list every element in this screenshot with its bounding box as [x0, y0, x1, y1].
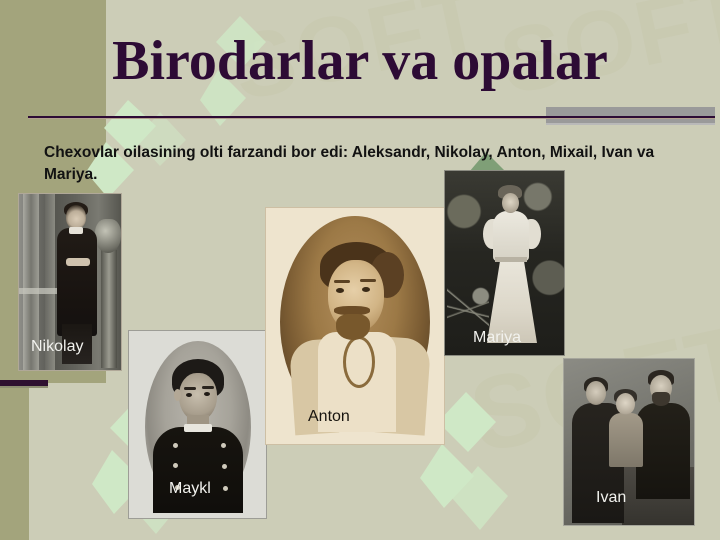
left-bottom-accent-shadow [0, 386, 48, 388]
caption-ivan: Ivan [596, 489, 626, 507]
body-paragraph: Chexovlar oilasining olti farzandi bor e… [44, 142, 664, 186]
photo-nikolay-vase [95, 219, 121, 253]
photo-maykl-button-4 [221, 443, 226, 448]
photo-nikolay[interactable]: Nikolay [18, 193, 122, 371]
caption-nikolay: Nikolay [31, 338, 83, 356]
photo-anton-brow-right [360, 279, 376, 282]
caption-maykl: Maykl [169, 480, 211, 498]
photo-anton[interactable]: Anton [265, 207, 445, 445]
photo-anton-eye-left [336, 288, 344, 293]
photo-nikolay-coat [57, 228, 97, 336]
photo-maykl-eye-left [186, 393, 192, 397]
photo-maykl[interactable]: Maykl [128, 330, 267, 519]
photo-nikolay-pedestal [101, 250, 117, 368]
photo-maykl-ear [174, 389, 181, 401]
photo-ivan-man-body [636, 403, 690, 499]
photo-maykl-face [179, 373, 217, 421]
photo-anton-eye-right [362, 287, 370, 292]
photo-ivan[interactable]: Ivan [563, 358, 695, 526]
photo-maykl-brow-right [202, 386, 214, 389]
photo-maykl-eye-right [204, 392, 210, 396]
photo-ivan-child-body [609, 413, 643, 467]
photo-maykl-brow-left [184, 387, 196, 390]
caption-mariya: Mariya [473, 329, 521, 347]
photo-maykl-button-5 [222, 464, 227, 469]
slide-canvas: SOFT SOFT SOFT [0, 0, 720, 540]
page-title: Birodarlar va opalar [0, 28, 720, 94]
photo-maykl-button-1 [173, 443, 178, 448]
photo-nikolay-collar [69, 227, 83, 234]
title-divider-highlight [28, 118, 715, 119]
photo-maykl-collar [184, 424, 212, 432]
photo-maykl-uniform [153, 427, 243, 513]
photo-mariya-belt [495, 257, 527, 262]
photo-ivan-man-beard [652, 392, 670, 406]
photo-nikolay-hands [66, 258, 90, 266]
photo-anton-brow-left [334, 280, 350, 283]
photo-nikolay-face [66, 205, 86, 229]
photo-maykl-button-2 [173, 463, 178, 468]
photo-maykl-button-6 [223, 486, 228, 491]
photo-ivan-child-face [616, 393, 635, 415]
caption-anton: Anton [308, 408, 350, 426]
photo-mariya[interactable]: Mariya [444, 170, 565, 356]
photo-ivan-woman-face [586, 381, 606, 405]
photo-anton-cravat [343, 336, 375, 388]
photo-mariya-face [502, 193, 519, 213]
photo-anton-beard [336, 314, 370, 340]
photo-mariya-bodice [493, 211, 529, 261]
